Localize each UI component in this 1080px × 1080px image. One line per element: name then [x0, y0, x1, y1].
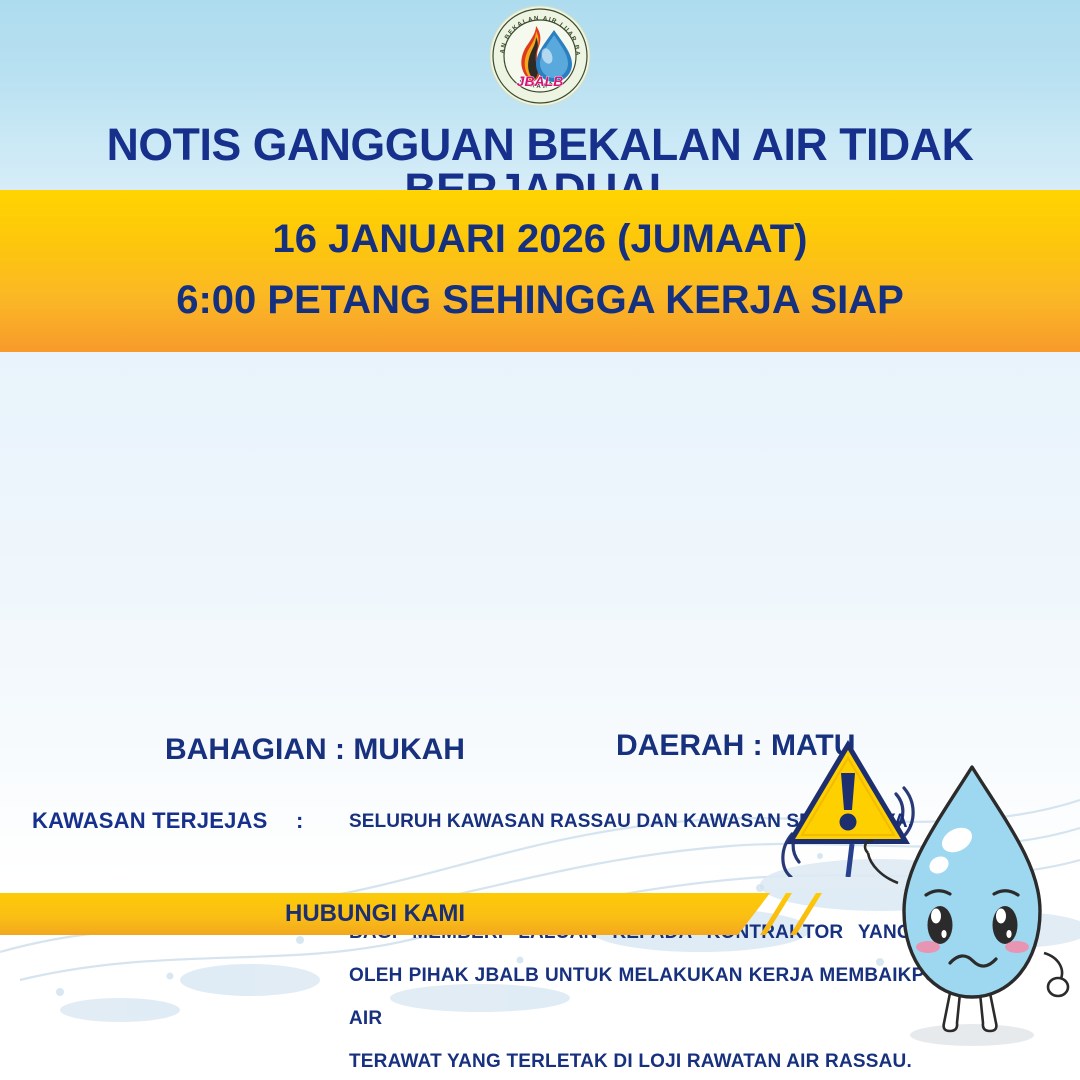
contact-banner: HUBUNGI KAMI [0, 893, 1080, 935]
contact-banner-label: HUBUNGI KAMI [0, 902, 750, 926]
notice-poster: JABATAN BEKALAN AIR LUAR BANDAR SARAWAK … [0, 0, 1080, 1080]
contacts-section: CALL CENTRE JBALB SARAWAK 082-262211 JBA… [0, 940, 1080, 1080]
notice-time: 6:00 PETANG SEHINGGA KERJA SIAP [0, 280, 1080, 320]
date-band: 16 JANUARI 2026 (JUMAAT) 6:00 PETANG SEH… [0, 190, 1080, 352]
contact-banner-slash-2 [790, 893, 836, 935]
poster-header: JABATAN BEKALAN AIR LUAR BANDAR SARAWAK … [0, 0, 1080, 190]
kawasan-label: KAWASAN TERJEJAS [32, 810, 267, 832]
notice-date: 16 JANUARI 2026 (JUMAAT) [0, 219, 1080, 259]
bahagian-label: BAHAGIAN : MUKAH [165, 735, 465, 765]
kawasan-colon: : [296, 810, 303, 832]
svg-text:JBALB: JBALB [517, 73, 564, 89]
jbalb-logo: JABATAN BEKALAN AIR LUAR BANDAR SARAWAK … [488, 4, 592, 108]
